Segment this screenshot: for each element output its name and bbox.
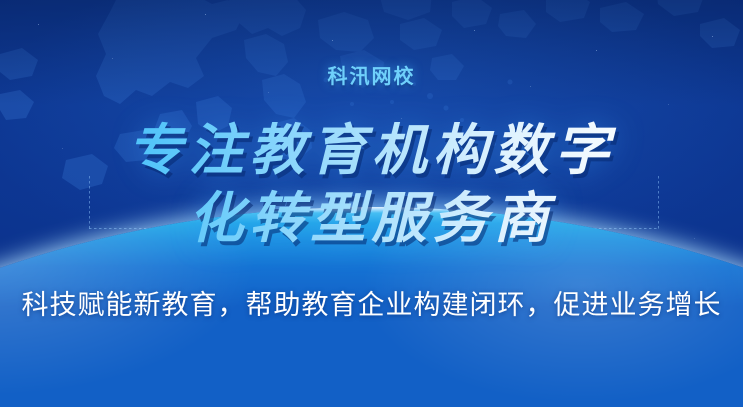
banner-content: 科汛网校 专注教育机构数字 化转型服务商 科技赋能新教育，帮助教育企业构建闭环，… <box>0 0 743 407</box>
headline-line-1: 专注教育机构数字 <box>0 116 743 184</box>
subtitle: 科技赋能新教育，帮助教育企业构建闭环，促进业务增长 <box>0 288 743 322</box>
brand-name: 科汛网校 <box>0 60 743 89</box>
promo-banner: 科汛网校 专注教育机构数字 化转型服务商 科技赋能新教育，帮助教育企业构建闭环，… <box>0 0 743 407</box>
headline-line-2: 化转型服务商 <box>0 184 743 252</box>
headline: 专注教育机构数字 化转型服务商 <box>0 116 743 252</box>
